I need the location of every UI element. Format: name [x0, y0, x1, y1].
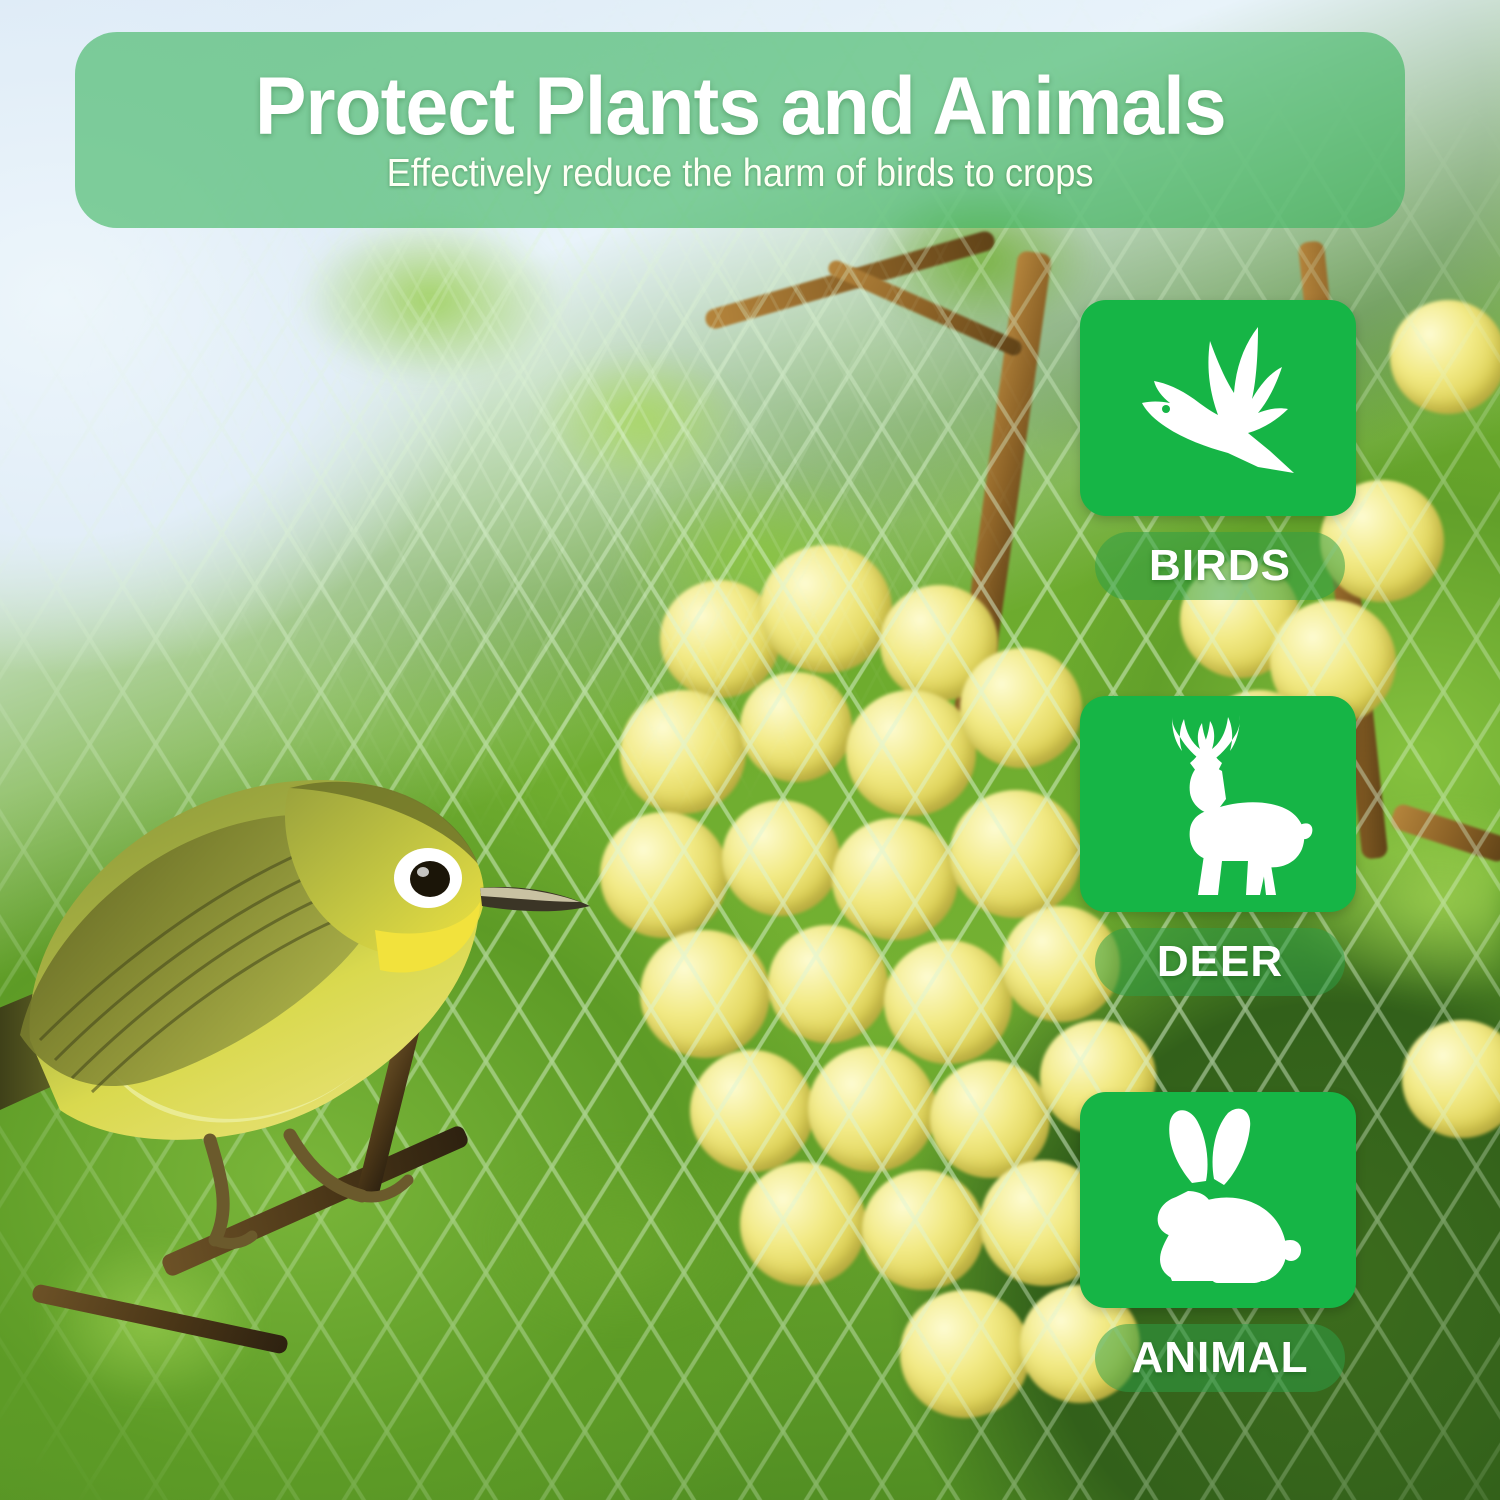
animal-label: ANIMAL [1131, 1333, 1308, 1383]
header-banner: Protect Plants and Animals Effectively r… [75, 32, 1405, 228]
deer-label: DEER [1157, 937, 1283, 987]
feature-card-list: BIRDS [1080, 300, 1360, 1392]
bird-photo-subject [0, 640, 600, 1260]
rabbit-silhouette-icon [1118, 1105, 1318, 1295]
product-feature-image: Protect Plants and Animals Effectively r… [0, 0, 1500, 1500]
birds-icon-card[interactable] [1080, 300, 1356, 516]
card-gap-1 [1080, 600, 1360, 696]
deer-label-pill: DEER [1095, 928, 1345, 996]
birds-label: BIRDS [1149, 541, 1291, 591]
animal-icon-card[interactable] [1080, 1092, 1356, 1308]
banner-subtitle: Effectively reduce the harm of birds to … [387, 154, 1094, 193]
feature-card-birds[interactable]: BIRDS [1080, 300, 1360, 600]
feature-card-animal[interactable]: ANIMAL [1080, 1092, 1360, 1392]
bird-silhouette-icon [1118, 323, 1318, 493]
feature-card-deer[interactable]: DEER [1080, 696, 1360, 996]
animal-label-pill: ANIMAL [1095, 1324, 1345, 1392]
deer-silhouette-icon [1118, 709, 1318, 899]
deer-icon-card[interactable] [1080, 696, 1356, 912]
birds-label-pill: BIRDS [1095, 532, 1345, 600]
banner-title: Protect Plants and Animals [255, 67, 1226, 147]
card-gap-2 [1080, 996, 1360, 1092]
